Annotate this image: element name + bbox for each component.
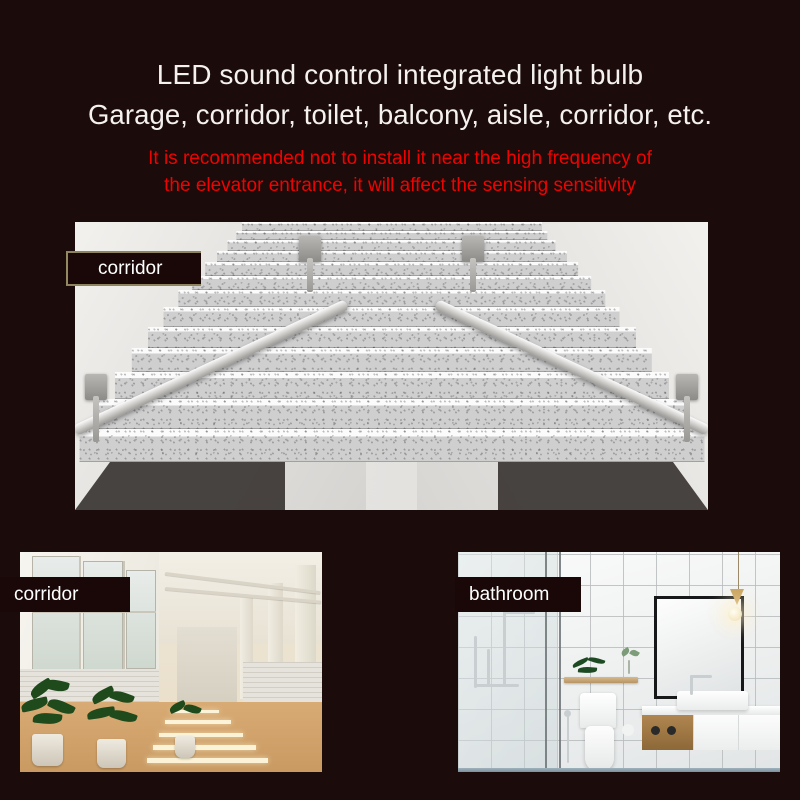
- bathroom-shelf-towel-1: [651, 726, 660, 735]
- bathroom-shower-valve: [474, 684, 519, 687]
- corridor-sunlight-1: [147, 758, 268, 763]
- staircase-step: [192, 276, 592, 291]
- staircase-step: [148, 327, 636, 349]
- bathroom-cabinet-door-1: [693, 715, 739, 750]
- staircase-step: [242, 222, 542, 231]
- badge-corridor-label: corridor: [14, 585, 78, 604]
- handrail-post-left-upper: [307, 258, 313, 292]
- banner-text-block: LED sound control integrated light bulb …: [0, 0, 800, 199]
- product-banner: LED sound control integrated light bulb …: [0, 0, 800, 800]
- staircase-tread: [178, 290, 605, 307]
- badge-corridor: corridor: [0, 577, 130, 612]
- bathroom-floor-edge: [458, 768, 780, 772]
- handrail-post-right-lower: [684, 396, 690, 442]
- badge-bathroom-label: bathroom: [469, 585, 549, 604]
- staircase-tread: [242, 222, 542, 231]
- corridor-far-wall: [177, 627, 237, 706]
- bathroom-pendant-cord: [738, 552, 739, 589]
- staircase-tread: [205, 262, 579, 275]
- bathroom-faucet: [690, 675, 693, 695]
- staircase-tread: [79, 429, 704, 462]
- corridor-plant-1: [20, 680, 86, 768]
- badge-staircase-label: corridor: [98, 259, 162, 278]
- staircase-tread: [163, 307, 620, 326]
- staircase-step: [205, 262, 579, 275]
- bathroom-cabinet-door-2: [738, 715, 780, 750]
- staircase-step: [97, 399, 686, 429]
- headline-line-2: Garage, corridor, toilet, balcony, aisle…: [0, 96, 800, 134]
- headline-line-1: LED sound control integrated light bulb: [0, 56, 800, 94]
- bathroom-shower-riser: [503, 611, 506, 686]
- bathroom-hand-shower: [487, 649, 490, 686]
- staircase-tread: [236, 231, 547, 240]
- staircase-step: [227, 240, 556, 250]
- bathroom-toilet-tank: [580, 693, 615, 728]
- staircase-tread: [97, 399, 686, 429]
- handrail-post-left-lower: [93, 396, 99, 442]
- staircase-step: [163, 307, 620, 326]
- badge-bathroom: bathroom: [455, 577, 581, 612]
- corridor-plant-3: [165, 702, 207, 759]
- corridor-window-1: [32, 556, 80, 670]
- bathroom-faucet-spout: [690, 675, 713, 678]
- bathroom-shelf-vase: [619, 649, 642, 680]
- badge-staircase: corridor: [66, 251, 201, 286]
- bathroom-pendant-shade: [730, 589, 744, 605]
- bathroom-vessel-sink: [677, 691, 748, 711]
- bathroom-toilet-roll: [622, 724, 634, 736]
- warning-line-2: the elevator entrance, it will affect th…: [0, 172, 800, 199]
- staircase-tread: [227, 240, 556, 250]
- staircase-step: [236, 231, 547, 240]
- staircase-tread: [192, 276, 592, 291]
- bathroom-toilet-bowl: [585, 726, 614, 772]
- warning-line-1: It is recommended not to install it near…: [0, 145, 800, 172]
- staircase-step: [79, 429, 704, 462]
- corridor-window-3: [126, 570, 156, 669]
- staircase-step: [217, 251, 567, 263]
- bathroom-shelf-plant: [571, 655, 610, 679]
- handrail-post-right-upper: [470, 258, 476, 292]
- staircase-tread: [217, 251, 567, 263]
- bathroom-grab-bar: [474, 636, 477, 689]
- staircase-tread: [148, 327, 636, 349]
- corridor-mullion-1: [79, 556, 81, 673]
- staircase-step: [178, 290, 605, 307]
- corridor-plant-2: [83, 688, 149, 769]
